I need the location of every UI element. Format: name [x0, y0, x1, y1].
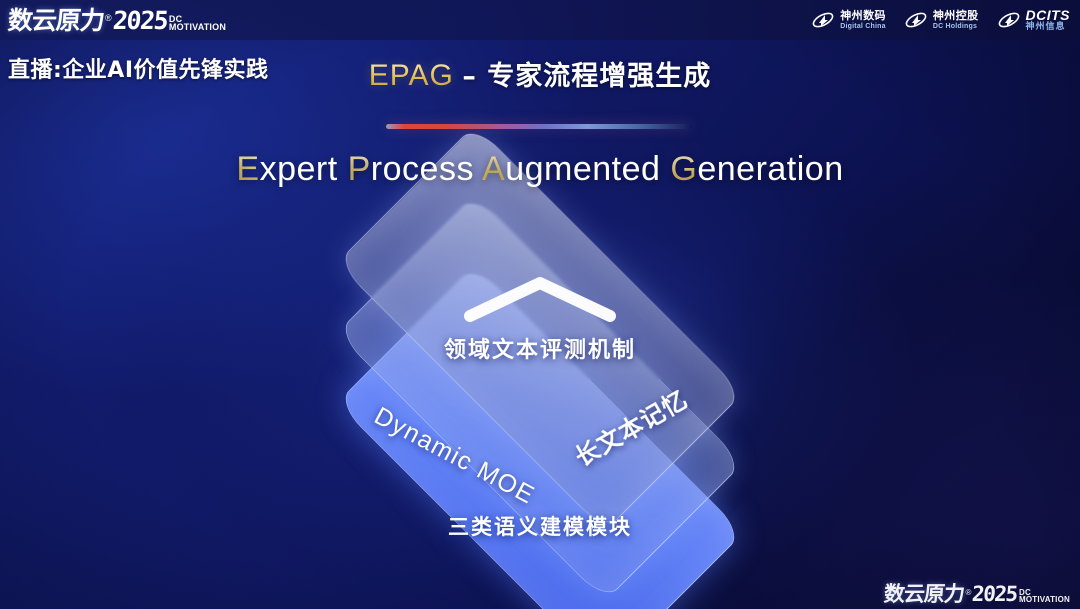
subtitle-word-augmented: Augmented	[482, 150, 660, 188]
main-title: EPAG – 专家流程增强生成	[0, 54, 1080, 93]
subtitle-cap-a: A	[482, 150, 505, 188]
partner-logo-dc-holdings-labels: 神州控股 DC Holdings	[933, 10, 979, 30]
subtitle-word-generation: Generation	[670, 150, 843, 188]
partner-logo-group: 神州数码 Digital China 神州控股 DC Holdings	[811, 8, 1070, 32]
watermark-year: 2025	[971, 584, 1017, 605]
main-title-abbreviation: EPAG	[369, 59, 454, 92]
brand-logo-registered-mark: ®	[105, 14, 112, 23]
partner-en-label: Digital China	[840, 23, 886, 30]
title-divider	[386, 124, 692, 129]
partner-cn-label: 神州控股	[933, 10, 979, 21]
partner-cn-label: DCITS	[1026, 8, 1071, 22]
subtitle-expansion: Expert Process Augmented Generation	[0, 150, 1080, 189]
partner-logo-dcits: DCITS 神州信息	[997, 8, 1071, 32]
swirl-logo-icon	[997, 9, 1021, 31]
partner-cn-label: 神州数码	[840, 10, 886, 21]
slide-canvas: 数云原力 ® 2025 DC MOTIVATION 神州数码 Digital C…	[0, 0, 1080, 609]
header-bar: 数云原力 ® 2025 DC MOTIVATION 神州数码 Digital C…	[0, 0, 1080, 40]
main-title-chinese: – 专家流程增强生成	[462, 61, 711, 92]
subtitle-rest-augmented: ugmented	[505, 150, 660, 188]
partner-en-label: 神州信息	[1026, 23, 1071, 32]
brand-logo: 数云原力 ® 2025 DC MOTIVATION	[8, 8, 226, 33]
partner-en-label: DC Holdings	[933, 23, 979, 30]
subtitle-cap-g: G	[670, 150, 697, 188]
subtitle-word-process: Process	[348, 150, 474, 188]
brand-logo-dc-line2: MOTIVATION	[169, 23, 226, 32]
watermark-dc-motivation: DC MOTIVATION	[1019, 589, 1070, 604]
layer-label-top: 领域文本评测机制	[0, 332, 1080, 364]
swirl-logo-icon	[811, 9, 835, 31]
watermark-registered-mark: ®	[965, 589, 971, 597]
subtitle-rest-generation: eneration	[697, 150, 843, 188]
subtitle-word-expert: Expert	[236, 150, 337, 188]
brand-logo-dc-motivation: DC MOTIVATION	[169, 15, 226, 32]
layer-label-bottom: 三类语义建模模块	[0, 511, 1080, 541]
footer-watermark-logo: 数云原力 ® 2025 DC MOTIVATION	[884, 584, 1070, 605]
subtitle-rest-expert: xpert	[260, 150, 338, 188]
partner-logo-dcits-labels: DCITS 神州信息	[1026, 8, 1071, 32]
subtitle-cap-p: P	[348, 150, 371, 188]
partner-logo-digital-china: 神州数码 Digital China	[811, 9, 886, 31]
subtitle-cap-e: E	[236, 150, 259, 188]
subtitle-rest-process: rocess	[371, 150, 474, 188]
partner-logo-digital-china-labels: 神州数码 Digital China	[840, 10, 886, 30]
watermark-cn: 数云原力	[884, 584, 966, 605]
watermark-dc-line2: MOTIVATION	[1019, 596, 1070, 604]
partner-logo-dc-holdings: 神州控股 DC Holdings	[904, 9, 979, 31]
brand-logo-cn: 数云原力	[7, 8, 105, 33]
brand-logo-year: 2025	[112, 8, 168, 33]
swirl-logo-icon	[904, 9, 928, 31]
